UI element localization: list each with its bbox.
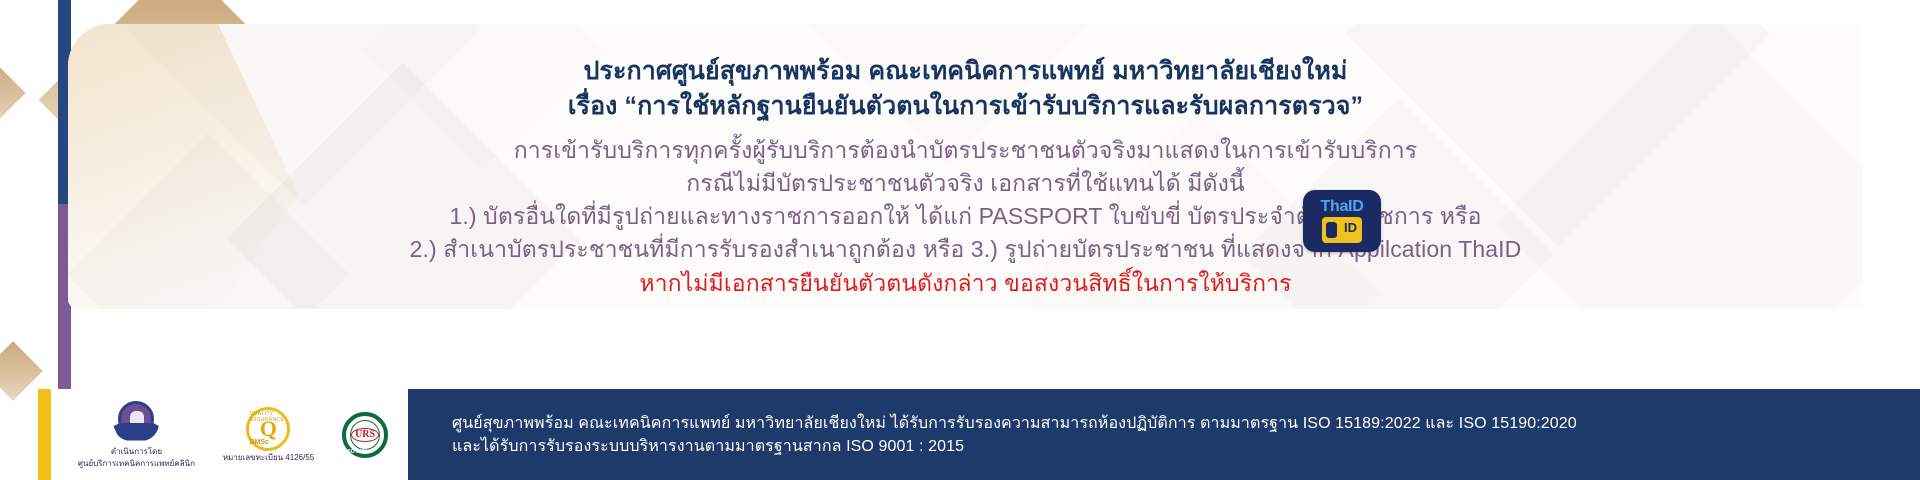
- dmsc-seal-bottom-text: DMSc: [249, 439, 287, 446]
- announcement-banner: ประกาศศูนย์สุขภาพพร้อม คณะเทคนิคการแพทย์…: [0, 0, 1920, 480]
- announcement-body-line-2: กรณีไม่มีบัตรประชาชนตัวจริง เอกสารที่ใช้…: [68, 168, 1863, 199]
- certification-clinic-seal: ดำเนินการโดย ศูนย์บริการเทคนิคการแพทย์คล…: [78, 401, 195, 469]
- urs-globe-icon: URS: [350, 420, 380, 450]
- clinic-seal-wings: [113, 423, 159, 441]
- announcement-card: ประกาศศูนย์สุขภาพพร้อม คณะเทคนิคการแพทย์…: [68, 24, 1863, 309]
- announcement-warning-line: หากไม่มีเอกสารยืนยันตัวตนดังกล่าว ขอสงวน…: [68, 268, 1863, 299]
- announcement-body-line-3: 1.) บัตรอื่นใดที่มีรูปถ่ายและทางราชการออ…: [68, 201, 1863, 232]
- urs-iso-seal-icon: URS ISO 9001: [342, 412, 388, 458]
- clinic-seal-icon: [113, 401, 159, 445]
- decorative-diamond-tiny: [0, 341, 43, 400]
- footer-accreditation-bar: ศูนย์สุขภาพพร้อม คณะเทคนิคการแพทย์ มหาวิ…: [408, 389, 1920, 480]
- sidebar-accent-yellow: [38, 389, 51, 480]
- urs-seal-center-text: URS: [351, 428, 379, 442]
- clinic-seal-caption-2: ศูนย์บริการเทคนิคการแพทย์คลินิก: [78, 459, 195, 469]
- footer-line-2: และได้รับการรับรองระบบบริหารงานตามมาตรฐา…: [452, 435, 1920, 458]
- announcement-body-line-1: การเข้ารับบริการทุกครั้งผู้รับบริการต้อง…: [68, 135, 1863, 166]
- announcement-title-line1: ประกาศศูนย์สุขภาพพร้อม คณะเทคนิคการแพทย์…: [68, 54, 1863, 88]
- thaid-card-label: ID: [1344, 221, 1357, 234]
- thaid-app-logo: ThaID ID: [1303, 190, 1381, 252]
- decorative-diamond-small: [0, 60, 26, 125]
- footer-strip: ดำเนินการโดย ศูนย์บริการเทคนิคการแพทย์คล…: [58, 389, 1920, 480]
- announcement-body-line-4: 2.) สำเนาบัตรประชาชนที่มีการรับรองสำเนาถ…: [68, 234, 1863, 265]
- certification-urs-seal: URS ISO 9001: [342, 412, 388, 458]
- dmsc-seal-caption: หมายเลขทะเบียน 4126/55: [223, 453, 315, 463]
- announcement-title-line2: เรื่อง “การใช้หลักฐานยืนยันตัวตนในการเข้…: [68, 89, 1863, 123]
- certification-dmsc-seal: QUALITY ASSURANCE Q DMSc หมายเลขทะเบียน …: [223, 407, 315, 463]
- dmsc-seal-icon: QUALITY ASSURANCE Q DMSc: [246, 407, 290, 451]
- announcement-text-block: ประกาศศูนย์สุขภาพพร้อม คณะเทคนิคการแพทย์…: [68, 24, 1863, 309]
- dmsc-seal-top-text: QUALITY ASSURANCE: [249, 411, 287, 423]
- certification-logos: ดำเนินการโดย ศูนย์บริการเทคนิคการแพทย์คล…: [58, 389, 408, 480]
- thaid-wordmark: ThaID: [1321, 199, 1364, 215]
- footer-line-1: ศูนย์สุขภาพพร้อม คณะเทคนิคการแพทย์ มหาวิ…: [452, 412, 1920, 435]
- id-card-icon: ID: [1322, 217, 1362, 243]
- clinic-seal-caption-1: ดำเนินการโดย: [111, 447, 162, 457]
- urs-seal-iso-text: ISO 9001: [346, 449, 384, 455]
